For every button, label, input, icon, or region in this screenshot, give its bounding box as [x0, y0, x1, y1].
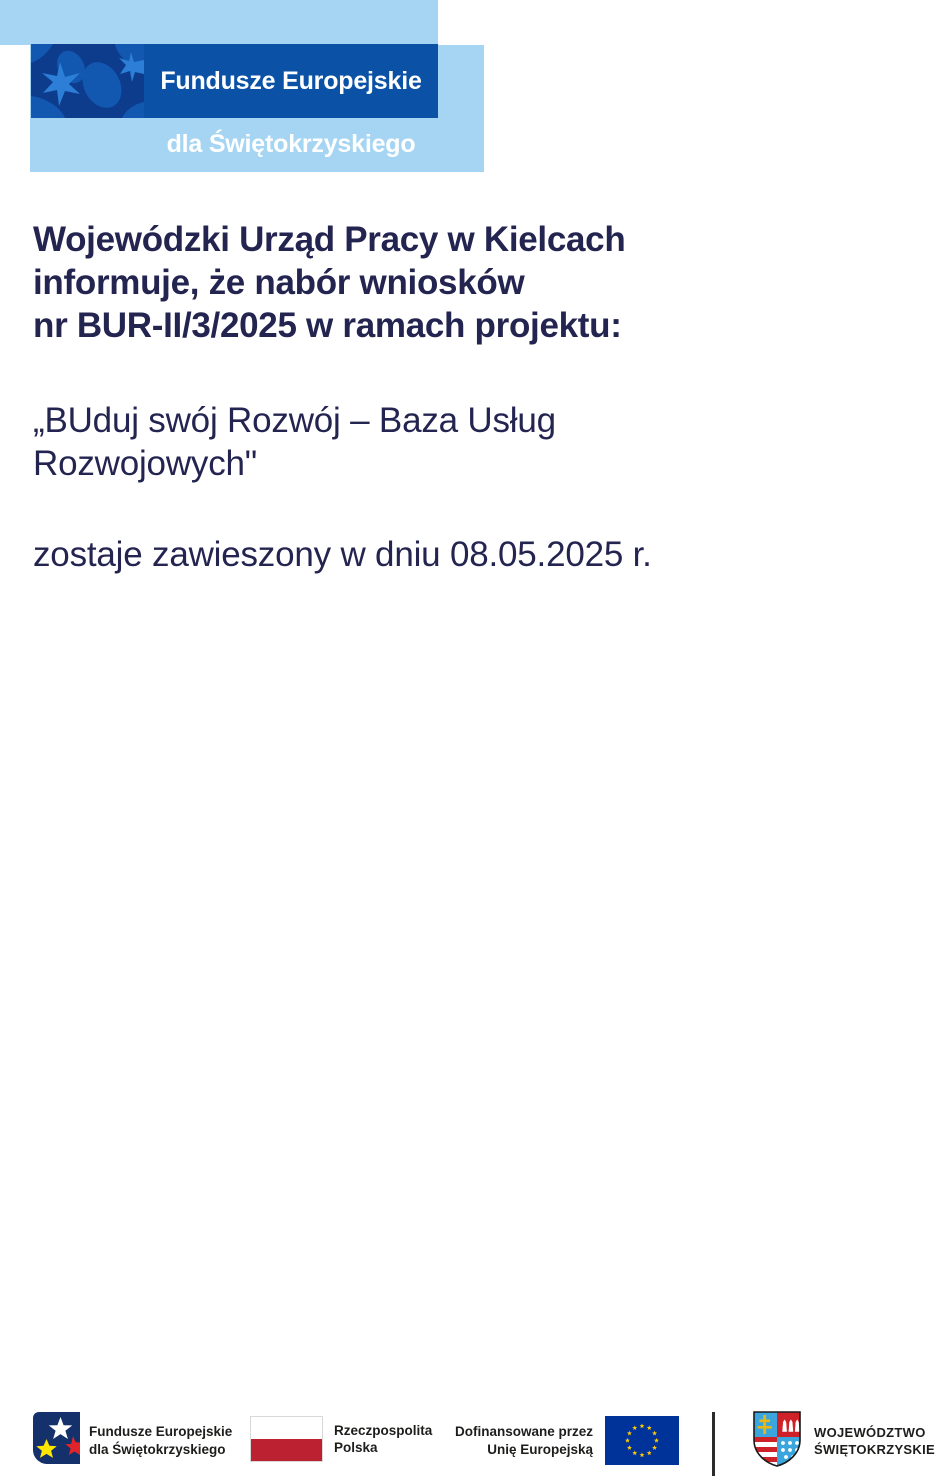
- footer-logo-fundusze-europejskie: Fundusze Europejskie dla Świętokrzyskieg…: [33, 1412, 232, 1469]
- footer-logo-unia-europejska: Dofinansowane przez Unię Europejską: [455, 1416, 679, 1465]
- header-light-blue-band-top: [0, 0, 438, 45]
- poland-flag-icon: [250, 1416, 323, 1462]
- project-title-line-2: Rozwojowych": [33, 442, 893, 485]
- footer-caption-unia: Dofinansowane przez Unię Europejską: [455, 1423, 593, 1458]
- footer-logo-bar: Fundusze Europejskie dla Świętokrzyskieg…: [0, 700, 940, 788]
- project-title-line-1: „BUduj swój Rozwój – Baza Usług: [33, 399, 893, 442]
- footer-caption-wojewodztwo: WOJEWÓDZTWO ŚWIĘTOKRZYSKIE: [814, 1425, 935, 1458]
- footer-logo-rzeczpospolita-polska: Rzeczpospolita Polska: [250, 1416, 432, 1462]
- poland-flag-white-stripe: [251, 1417, 322, 1439]
- footer-logo-wojewodztwo-swietokrzyskie: WOJEWÓDZTWO ŚWIĘTOKRZYSKIE: [752, 1410, 935, 1473]
- header-brand-block: Fundusze Europejskie dla Świętokrzyskieg…: [0, 0, 940, 190]
- fundusze-europejskie-star-mark-icon: [33, 1412, 80, 1469]
- announcement-line-3: nr BUR-II/3/2025 w ramach projektu:: [33, 304, 893, 347]
- footer-vertical-divider: [712, 1412, 715, 1476]
- footer-caption-fundusze: Fundusze Europejskie dla Świętokrzyskieg…: [89, 1423, 232, 1458]
- fundusze-europejskie-mark-icon: [31, 44, 144, 118]
- text-spacer-2: [33, 485, 893, 533]
- text-spacer-1: [33, 347, 893, 399]
- announcement-line-2: informuje, że nabór wniosków: [33, 261, 893, 304]
- announcement-line-1: Wojewódzki Urząd Pracy w Kielcach: [33, 218, 893, 261]
- european-union-flag-icon: [605, 1416, 679, 1465]
- poland-flag-red-stripe: [251, 1439, 322, 1461]
- header-program-name: Fundusze Europejskie: [144, 44, 438, 118]
- swietokrzyskie-coat-of-arms-icon: [752, 1410, 802, 1473]
- suspension-date-line: zostaje zawieszony w dniu 08.05.2025 r.: [33, 533, 893, 576]
- announcement-text-block: Wojewódzki Urząd Pracy w Kielcach inform…: [33, 218, 893, 576]
- footer-caption-rzeczpospolita: Rzeczpospolita Polska: [334, 1422, 432, 1457]
- header-program-region: dla Świętokrzyskiego: [144, 120, 438, 168]
